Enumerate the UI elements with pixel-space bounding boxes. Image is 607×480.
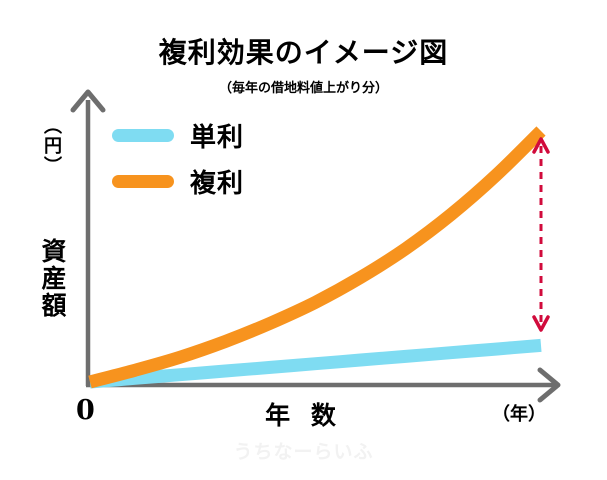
y-axis xyxy=(73,92,103,386)
legend-swatch-compound-interest xyxy=(112,175,174,188)
legend-item-simple-interest: 単利 xyxy=(112,112,244,158)
legend-label-compound-interest: 複利 xyxy=(190,163,244,200)
legend: 単利 複利 xyxy=(112,112,244,204)
chart-canvas: 複利効果のイメージ図 （毎年の借地料値上がり分） 単利 xyxy=(0,0,607,480)
x-axis-origin-label: 0 xyxy=(76,395,95,426)
legend-swatch-simple-interest xyxy=(112,129,174,142)
difference-arrow xyxy=(534,139,548,330)
legend-label-simple-interest: 単利 xyxy=(190,117,244,154)
legend-item-compound-interest: 複利 xyxy=(112,158,244,204)
x-axis-unit-label: （年） xyxy=(492,400,546,426)
